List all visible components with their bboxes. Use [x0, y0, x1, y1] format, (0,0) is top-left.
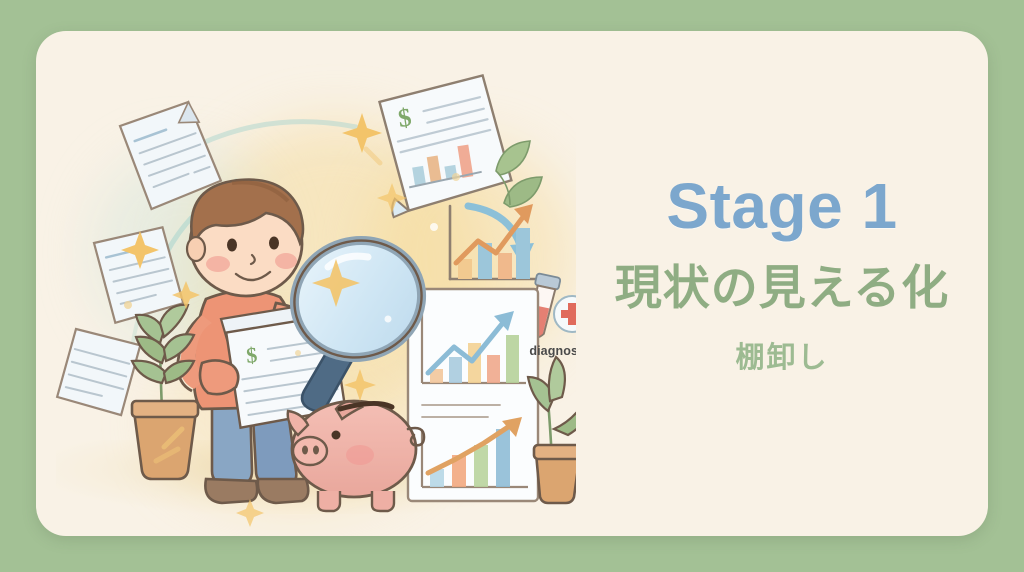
- svg-text:$: $: [245, 342, 258, 368]
- content-card: $: [36, 31, 988, 536]
- illustration-svg: $: [36, 31, 576, 536]
- page-caption: 棚卸し: [735, 341, 828, 376]
- chart-poster: [408, 289, 538, 501]
- text-panel: Stage 1 現状の見える化 棚卸し: [576, 31, 988, 536]
- boy-left-hand: [200, 360, 238, 394]
- diagnosis-label: diagnosis: [519, 344, 576, 358]
- medical-cross: [554, 296, 576, 332]
- page-title: Stage 1: [666, 173, 897, 240]
- illustration-panel: $: [36, 31, 576, 536]
- page-subtitle: 現状の見える化: [615, 261, 950, 315]
- floating-document-3: [56, 328, 141, 417]
